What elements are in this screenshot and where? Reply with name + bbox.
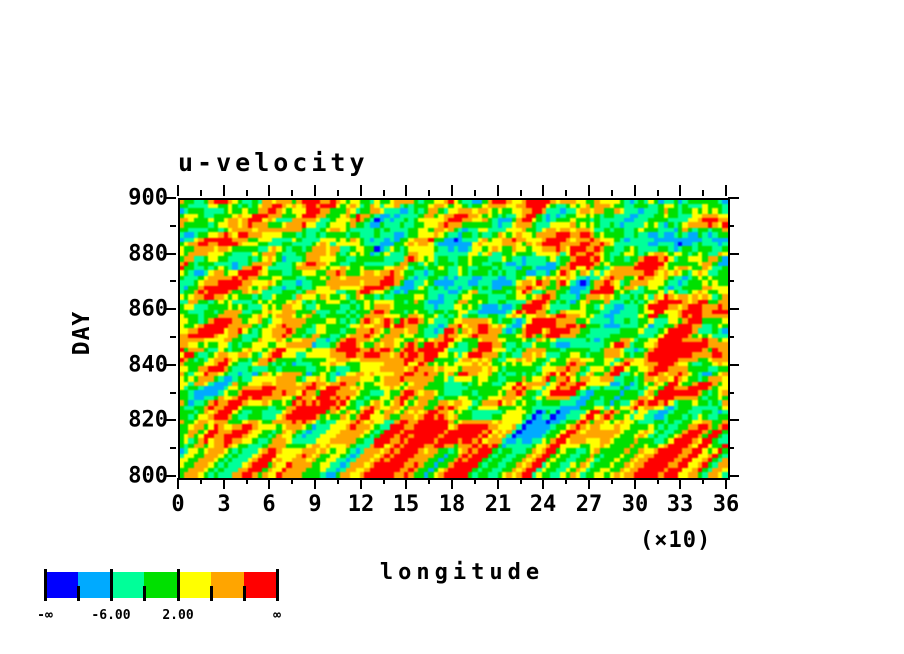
x-tick-label: 33	[667, 492, 694, 517]
y-minor-tick	[170, 392, 176, 394]
colorbar-tick-label: -6.00	[91, 608, 130, 623]
x-tick-label: 36	[713, 492, 740, 517]
y-major-tick-right	[728, 475, 739, 477]
y-minor-tick-right	[728, 280, 734, 282]
x-major-tick-top	[634, 185, 636, 196]
x-minor-tick-top	[657, 190, 659, 196]
x-minor-tick-top	[291, 190, 293, 196]
x-minor-tick	[474, 478, 476, 484]
x-major-tick	[542, 478, 544, 489]
x-major-tick-top	[588, 185, 590, 196]
colorbar-tick	[44, 569, 47, 601]
colorbar-band	[111, 572, 144, 598]
x-major-tick	[177, 478, 179, 489]
x-major-tick-top	[542, 185, 544, 196]
x-major-tick	[451, 478, 453, 489]
y-major-tick-right	[728, 308, 739, 310]
x-minor-tick-top	[474, 190, 476, 196]
colorbar-minor-tick	[210, 586, 213, 601]
x-minor-tick-top	[611, 190, 613, 196]
x-minor-tick	[565, 478, 567, 484]
x-major-tick-top	[451, 185, 453, 196]
x-major-tick-top	[268, 185, 270, 196]
x-minor-tick	[428, 478, 430, 484]
y-tick-label: 900	[104, 186, 168, 211]
colorbar-minor-tick	[143, 586, 146, 601]
colorbar-tick	[276, 569, 279, 601]
x-major-tick	[725, 478, 727, 489]
y-minor-tick-right	[728, 392, 734, 394]
x-major-tick-top	[177, 185, 179, 196]
x-major-tick-top	[679, 185, 681, 196]
x-minor-tick-top	[520, 190, 522, 196]
x-major-tick-top	[314, 185, 316, 196]
x-minor-tick-top	[428, 190, 430, 196]
x-major-tick	[223, 478, 225, 489]
x-minor-tick	[702, 478, 704, 484]
x-tick-label: 0	[171, 492, 184, 517]
x-axis-multiplier-label: (×10)	[640, 528, 711, 553]
x-major-tick-top	[360, 185, 362, 196]
y-minor-tick	[170, 225, 176, 227]
x-minor-tick-top	[337, 190, 339, 196]
y-tick-label: 800	[104, 464, 168, 489]
x-major-tick-top	[725, 185, 727, 196]
x-tick-label: 18	[439, 492, 466, 517]
y-minor-tick	[170, 280, 176, 282]
x-major-tick	[314, 478, 316, 489]
x-minor-tick	[200, 478, 202, 484]
colorbar-tick-label: ∞	[273, 608, 281, 623]
x-minor-tick	[291, 478, 293, 484]
y-minor-tick	[170, 447, 176, 449]
x-minor-tick	[657, 478, 659, 484]
colorbar-band	[78, 572, 111, 598]
colorbar-band	[45, 572, 78, 598]
y-tick-label: 860	[104, 297, 168, 322]
x-major-tick	[588, 478, 590, 489]
colorbar-tick	[177, 569, 180, 601]
x-minor-tick-top	[383, 190, 385, 196]
x-minor-tick-top	[702, 190, 704, 196]
y-major-tick-right	[728, 364, 739, 366]
x-minor-tick-top	[200, 190, 202, 196]
x-tick-label: 30	[622, 492, 649, 517]
colorbar-tick	[110, 569, 113, 601]
x-minor-tick	[520, 478, 522, 484]
colorbar-tick-label: -∞	[37, 608, 53, 623]
x-tick-label: 9	[308, 492, 321, 517]
y-minor-tick-right	[728, 336, 734, 338]
x-major-tick-top	[223, 185, 225, 196]
colorbar-band	[178, 572, 211, 598]
x-minor-tick-top	[565, 190, 567, 196]
x-minor-tick-top	[246, 190, 248, 196]
x-major-tick-top	[497, 185, 499, 196]
y-minor-tick-right	[728, 447, 734, 449]
x-major-tick	[497, 478, 499, 489]
y-major-tick-right	[728, 419, 739, 421]
x-tick-label: 24	[530, 492, 557, 517]
colorbar-band	[211, 572, 244, 598]
y-minor-tick	[170, 336, 176, 338]
y-major-tick-right	[728, 253, 739, 255]
figure-root: u-velocity 03691215182124273033368008208…	[0, 0, 904, 654]
x-minor-tick	[246, 478, 248, 484]
x-major-tick	[405, 478, 407, 489]
x-major-tick	[679, 478, 681, 489]
x-major-tick-top	[405, 185, 407, 196]
y-major-tick-right	[728, 197, 739, 199]
x-minor-tick	[383, 478, 385, 484]
x-major-tick	[634, 478, 636, 489]
colorbar-band	[244, 572, 277, 598]
x-tick-label: 12	[348, 492, 375, 517]
x-tick-label: 3	[217, 492, 230, 517]
x-tick-label: 21	[485, 492, 512, 517]
heatmap-plot-area	[178, 198, 730, 480]
y-tick-label: 820	[104, 408, 168, 433]
y-axis-title: DAY	[69, 311, 95, 356]
x-tick-label: 6	[262, 492, 275, 517]
x-tick-label: 15	[393, 492, 420, 517]
x-minor-tick	[337, 478, 339, 484]
colorbar-minor-tick	[243, 586, 246, 601]
colorbar-band	[144, 572, 177, 598]
page-title: u-velocity	[178, 148, 369, 177]
colorbar-tick-label: 2.00	[162, 608, 193, 623]
x-major-tick	[360, 478, 362, 489]
x-tick-label: 27	[576, 492, 603, 517]
x-axis-title: longitude	[380, 560, 544, 585]
y-minor-tick-right	[728, 225, 734, 227]
y-tick-label: 880	[104, 242, 168, 267]
x-minor-tick	[611, 478, 613, 484]
colorbar-minor-tick	[77, 586, 80, 601]
heatmap-field	[180, 200, 728, 478]
x-major-tick	[268, 478, 270, 489]
y-tick-label: 840	[104, 353, 168, 378]
